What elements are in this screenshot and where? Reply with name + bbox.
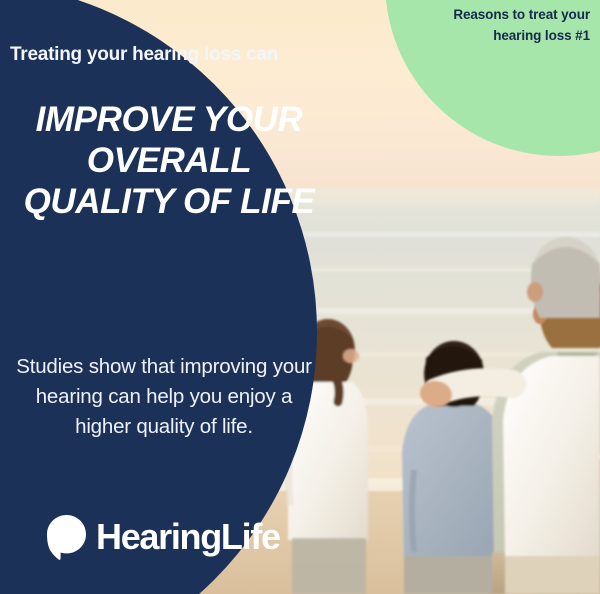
eyebrow-text: Treating your hearing loss can [10, 44, 350, 66]
kicker-label: Reasons to treat your hearing loss #1 [410, 5, 590, 47]
body-copy: Studies show that improving your hearing… [14, 352, 314, 442]
speech-bubble-icon [45, 513, 88, 561]
brand-name: HearingLife [96, 519, 280, 555]
brand-logo: HearingLife [45, 513, 280, 561]
content-layer: Reasons to treat your hearing loss #1 Tr… [0, 0, 600, 594]
page-title: IMPROVE YOUR OVERALL QUALITY OF LIFE [14, 100, 324, 222]
poster-canvas: Reasons to treat your hearing loss #1 Tr… [0, 0, 600, 594]
